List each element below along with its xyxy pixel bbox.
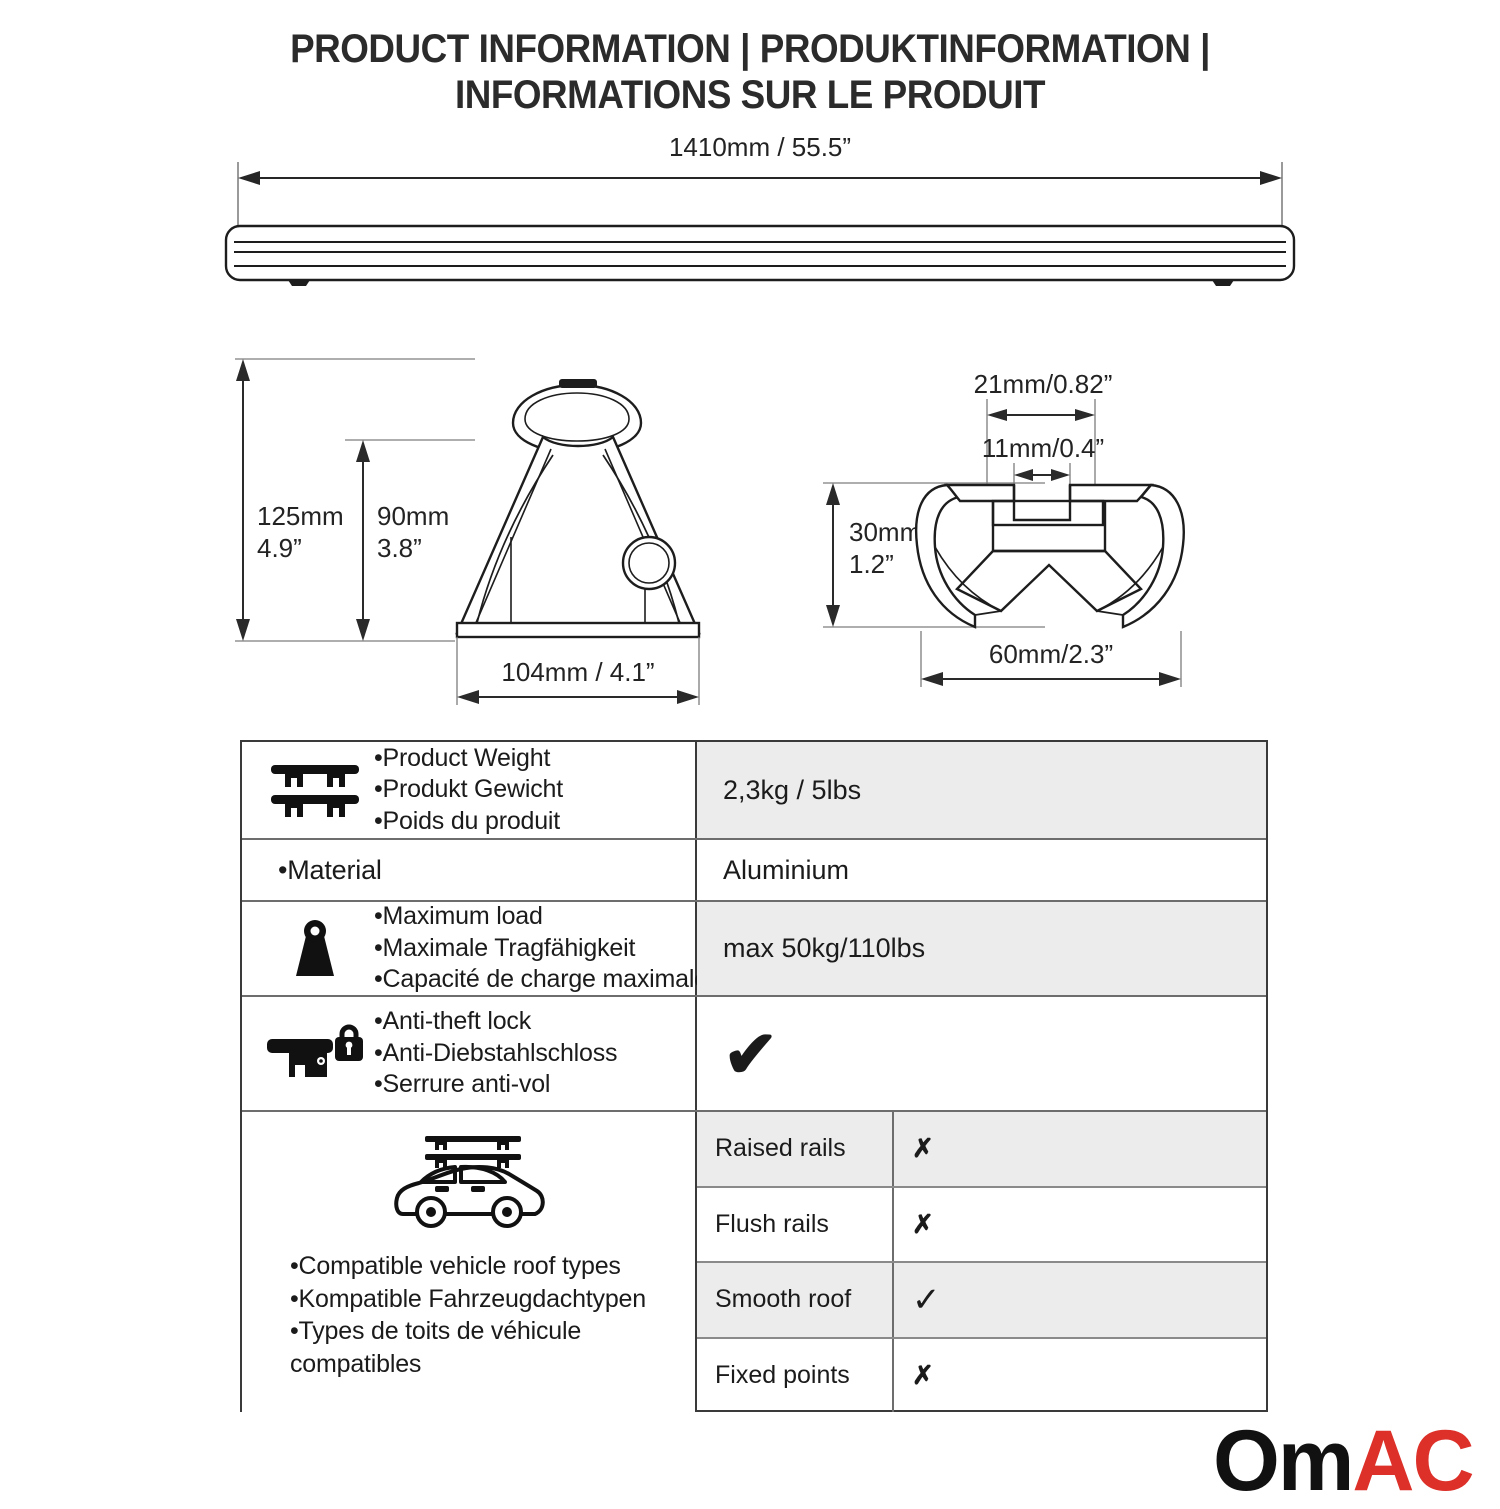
spec-label-en: •Material — [278, 853, 382, 887]
tower-total-height-label: 125mm — [257, 501, 344, 531]
roof-type-label: Smooth roof — [697, 1263, 894, 1337]
roof-label-de: •Kompatible Fahrzeugdachtypen — [290, 1283, 695, 1316]
profile-width-label: 60mm/2.3” — [989, 639, 1113, 669]
roof-type-row: Smooth roof ✓ — [697, 1263, 1266, 1339]
spec-label-fr: •Capacité de charge maximale — [374, 964, 708, 996]
tower-dimension-drawing: 125mm 4.9” 90mm 3.8” — [225, 345, 725, 715]
spec-label-lines: •Material — [278, 853, 382, 887]
spec-value: ✔ — [697, 997, 1266, 1110]
roof-type-label: Fixed points — [697, 1339, 894, 1413]
table-row: •Compatible vehicle roof types •Kompatib… — [242, 1112, 1266, 1412]
spec-label-de: •Maximale Tragfähigkeit — [374, 933, 708, 965]
check-mark: ✔ — [723, 1021, 778, 1087]
spec-label-de: •Anti-Diebstahlschloss — [374, 1038, 617, 1070]
table-row: •Maximum load •Maximale Tragfähigkeit •C… — [242, 902, 1266, 997]
roof-type-label: Flush rails — [697, 1188, 894, 1262]
specification-table: •Product Weight •Produkt Gewicht •Poids … — [240, 740, 1268, 1412]
roof-type-mark: ✗ — [894, 1133, 934, 1164]
logo-text-red: AC — [1352, 1413, 1472, 1509]
spec-label-de: •Produkt Gewicht — [374, 774, 563, 806]
spec-value: 2,3kg / 5lbs — [697, 742, 1266, 838]
bar-length-label: 1410mm / 55.5” — [669, 132, 851, 162]
roof-label-en: •Compatible vehicle roof types — [290, 1250, 695, 1283]
spec-label-lines: •Anti-theft lock •Anti-Diebstahlschloss … — [374, 1006, 617, 1101]
product-information-sheet: PRODUCT INFORMATION | PRODUKTINFORMATION… — [0, 0, 1500, 1500]
spec-label-lines: •Maximum load •Maximale Tragfähigkeit •C… — [374, 901, 708, 996]
roof-type-row: Flush rails ✗ — [697, 1188, 1266, 1264]
car-with-rack-icon — [385, 1126, 553, 1236]
roof-type-mark: ✓ — [894, 1280, 941, 1320]
tower-inner-height-inch-label: 3.8” — [377, 533, 422, 563]
roof-type-row: Fixed points ✗ — [697, 1339, 1266, 1413]
roof-type-row: Raised rails ✗ — [697, 1112, 1266, 1188]
slot-outer-label: 21mm/0.82” — [974, 369, 1113, 399]
roof-label-fr: •Types de toits de véhicule — [290, 1315, 695, 1348]
roof-type-label: Raised rails — [697, 1112, 894, 1186]
spec-label-cell: •Anti-theft lock •Anti-Diebstahlschloss … — [242, 997, 697, 1110]
omac-logo: OmAC — [1213, 1418, 1473, 1504]
spec-label-cell: •Product Weight •Produkt Gewicht •Poids … — [242, 742, 697, 838]
crossbars-icon — [256, 759, 374, 821]
title-line-2: INFORMATIONS SUR LE PRODUIT — [60, 72, 1440, 118]
crossbar-length-drawing: 1410mm / 55.5” — [200, 130, 1320, 320]
table-row: •Material Aluminium — [242, 840, 1266, 902]
spec-value: max 50kg/110lbs — [697, 902, 1266, 995]
spec-label-en: •Product Weight — [374, 743, 563, 775]
tower-total-height-inch-label: 4.9” — [257, 533, 302, 563]
tower-inner-height-label: 90mm — [377, 501, 449, 531]
title-line-1: PRODUCT INFORMATION | PRODUKTINFORMATION… — [290, 27, 1210, 71]
slot-inner-label: 11mm/0.4” — [982, 433, 1104, 463]
spec-label-cell: •Material — [242, 840, 697, 900]
roof-type-mark: ✗ — [894, 1209, 934, 1240]
table-row: •Anti-theft lock •Anti-Diebstahlschloss … — [242, 997, 1266, 1112]
profile-cross-section-drawing: 21mm/0.82” 11mm/0.4” 30mm 1.2” — [805, 365, 1295, 695]
spec-label-en: •Maximum load — [374, 901, 708, 933]
profile-height-inch-label: 1.2” — [849, 549, 894, 579]
roof-label-cell: •Compatible vehicle roof types •Kompatib… — [242, 1112, 697, 1412]
weight-icon — [256, 914, 374, 984]
page-title: PRODUCT INFORMATION | PRODUKTINFORMATION… — [60, 26, 1440, 119]
roof-label-fr-cont: compatibles — [290, 1348, 695, 1381]
table-row: •Product Weight •Produkt Gewicht •Poids … — [242, 742, 1266, 840]
spec-value: Aluminium — [697, 840, 1266, 900]
spec-label-fr: •Serrure anti-vol — [374, 1069, 617, 1101]
roof-type-mark: ✗ — [894, 1360, 934, 1391]
tower-width-label: 104mm / 4.1” — [501, 657, 654, 687]
spec-label-cell: •Maximum load •Maximale Tragfähigkeit •C… — [242, 902, 697, 995]
roof-type-subtable: Raised rails ✗ Flush rails ✗ Smooth roof… — [697, 1112, 1266, 1412]
spec-label-lines: •Product Weight •Produkt Gewicht •Poids … — [374, 743, 563, 838]
spec-label-en: •Anti-theft lock — [374, 1006, 617, 1038]
logo-text-dark: Om — [1213, 1413, 1352, 1509]
roof-label-lines: •Compatible vehicle roof types •Kompatib… — [242, 1250, 695, 1380]
profile-height-label: 30mm — [849, 517, 921, 547]
lock-icon — [256, 1021, 374, 1087]
spec-label-fr: •Poids du produit — [374, 806, 563, 838]
